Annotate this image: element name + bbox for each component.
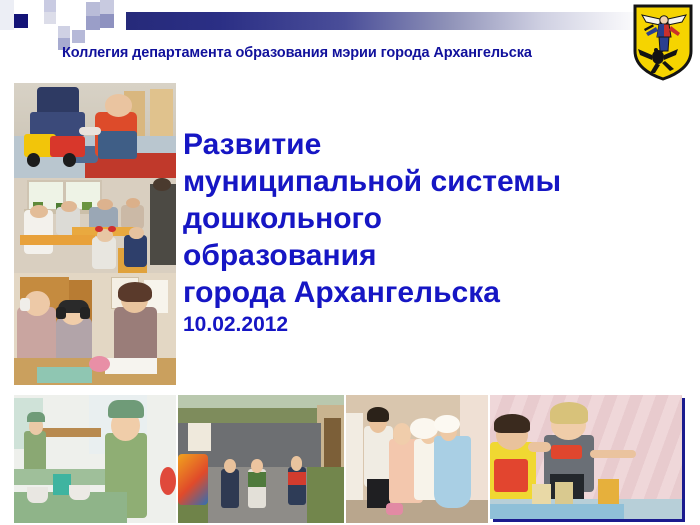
photo-speech-therapy-session: [14, 273, 176, 385]
photo-two-boys-with-toys: [490, 395, 682, 519]
title-line-2: муниципальной системы: [183, 163, 688, 200]
decorative-square-11: [0, 0, 14, 30]
header-title: Коллегия департамента образования мэрии …: [62, 45, 642, 61]
photo-parents-and-children-tables: [14, 178, 176, 273]
title-line-4: образования: [183, 237, 688, 274]
decorative-squares: [0, 0, 132, 46]
decorative-square-8: [58, 26, 70, 38]
decorative-square-3: [56, 12, 70, 26]
decorative-square-6: [100, 0, 114, 14]
photo-toddler-with-toy-truck: [14, 83, 176, 178]
title-line-1: Развитие: [183, 126, 688, 163]
photo-children-in-costumes: [346, 395, 488, 523]
coat-of-arms-icon: [632, 3, 694, 81]
photo-children-outdoor-race: [178, 395, 344, 523]
decorative-square-1: [44, 0, 56, 12]
slide-date: 10.02.2012: [183, 312, 688, 337]
title-line-3: дошкольного: [183, 200, 688, 237]
photo-girl-setting-tables: [14, 395, 176, 523]
decorative-square-10: [72, 30, 85, 43]
decorative-square-4: [86, 2, 100, 16]
decorative-square-0: [14, 14, 28, 28]
slide-title-block: Развитие муниципальной системы дошкольно…: [183, 126, 688, 337]
title-line-5: города Архангельска: [183, 274, 688, 311]
decorative-square-7: [100, 14, 114, 28]
header-gradient-bar: [126, 12, 646, 30]
decorative-square-2: [44, 12, 56, 24]
decorative-square-5: [86, 16, 100, 30]
